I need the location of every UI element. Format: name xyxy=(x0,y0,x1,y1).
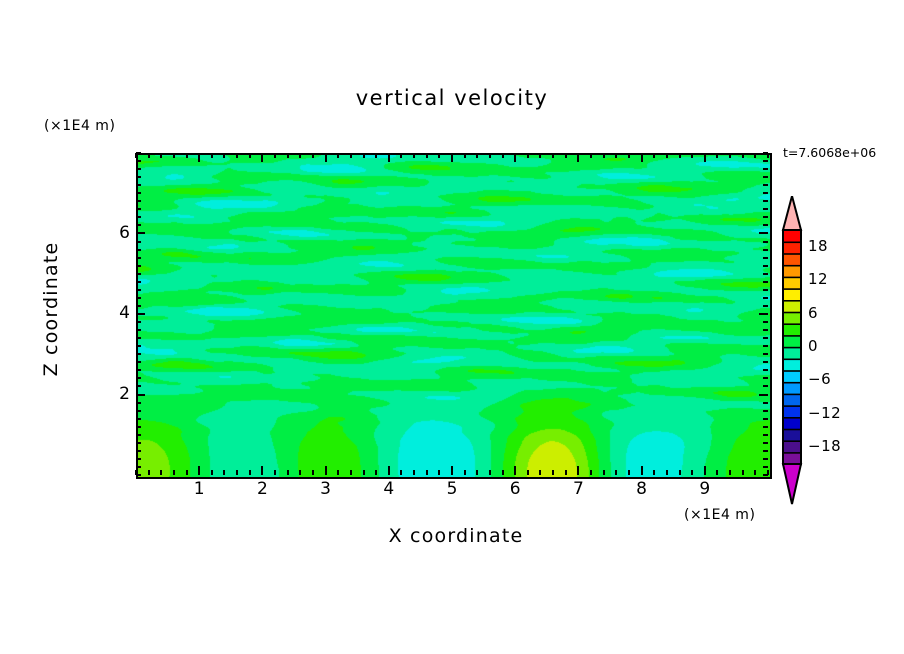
x-tick-top xyxy=(552,153,554,158)
x-tick-top xyxy=(160,153,162,158)
x-tick-top xyxy=(679,153,681,158)
x-tick xyxy=(476,470,478,475)
y-tick-right xyxy=(763,208,768,210)
y-tick xyxy=(136,224,141,226)
x-tick xyxy=(451,466,453,475)
y-tick-right xyxy=(763,200,768,202)
y-tick xyxy=(136,466,141,468)
x-tick xyxy=(539,470,541,475)
x-tick-top xyxy=(148,153,150,158)
y-tick xyxy=(136,192,141,194)
y-tick-right xyxy=(763,321,768,323)
x-tick xyxy=(173,470,175,475)
y-tick xyxy=(136,329,141,331)
x-tick xyxy=(716,470,718,475)
x-tick xyxy=(337,470,339,475)
y-tick-label: 4 xyxy=(96,303,130,323)
x-tick xyxy=(489,470,491,475)
y-tick xyxy=(136,152,141,154)
x-tick xyxy=(388,466,390,475)
x-tick xyxy=(287,470,289,475)
x-tick-top xyxy=(173,153,175,158)
y-tick xyxy=(136,450,141,452)
x-tick-top xyxy=(527,153,529,158)
colorbar-label: 12 xyxy=(808,270,828,288)
x-tick xyxy=(299,470,301,475)
y-tick xyxy=(136,216,141,218)
x-tick-top xyxy=(603,153,605,158)
y-tick-right xyxy=(763,329,768,331)
x-tick-label: 9 xyxy=(685,479,725,499)
x-tick-top xyxy=(691,153,693,158)
y-tick xyxy=(136,297,141,299)
y-tick-right xyxy=(763,216,768,218)
y-tick-right xyxy=(763,297,768,299)
x-tick-top xyxy=(337,153,339,158)
x-tick-top xyxy=(223,153,225,158)
colorbar-swatches xyxy=(778,196,902,506)
colorbar-label: 6 xyxy=(808,304,818,322)
y-tick-right xyxy=(763,152,768,154)
x-tick-top xyxy=(666,153,668,158)
y-tick xyxy=(136,168,141,170)
x-tick-top xyxy=(261,153,263,162)
y-tick xyxy=(136,313,145,315)
x-tick xyxy=(590,470,592,475)
x-tick-label: 2 xyxy=(242,479,282,499)
x-tick xyxy=(502,470,504,475)
x-tick-top xyxy=(451,153,453,162)
y-tick xyxy=(136,369,141,371)
y-tick-right xyxy=(763,192,768,194)
x-tick-top xyxy=(565,153,567,158)
x-tick xyxy=(223,470,225,475)
x-tick-top xyxy=(325,153,327,162)
y-tick-right xyxy=(763,426,768,428)
x-tick xyxy=(464,470,466,475)
y-tick-right xyxy=(763,402,768,404)
x-tick-label: 8 xyxy=(622,479,662,499)
x-tick xyxy=(641,466,643,475)
y-tick-right xyxy=(763,377,768,379)
x-tick-top xyxy=(350,153,352,158)
y-tick xyxy=(136,176,141,178)
contour-plot-area xyxy=(136,153,772,479)
x-tick-top xyxy=(236,153,238,158)
y-tick-right xyxy=(763,249,768,251)
x-tick xyxy=(666,470,668,475)
y-tick xyxy=(136,200,141,202)
y-tick xyxy=(136,265,141,267)
y-tick-right xyxy=(763,434,768,436)
time-annotation: t=7.6068e+06 xyxy=(783,145,876,160)
y-tick-right xyxy=(763,337,768,339)
y-tick xyxy=(136,249,141,251)
x-tick-label: 5 xyxy=(432,479,472,499)
x-tick-top xyxy=(704,153,706,162)
x-tick xyxy=(729,470,731,475)
x-tick xyxy=(552,470,554,475)
chart-title: vertical velocity xyxy=(0,86,904,110)
x-tick xyxy=(236,470,238,475)
colorbar-label: 18 xyxy=(808,237,828,255)
y-tick xyxy=(136,474,141,476)
y-tick-right xyxy=(763,369,768,371)
x-tick xyxy=(198,466,200,475)
y-tick-right xyxy=(763,281,768,283)
x-tick xyxy=(249,470,251,475)
colorbar-label: −12 xyxy=(808,404,841,422)
x-tick-top xyxy=(438,153,440,158)
x-tick xyxy=(527,470,529,475)
x-tick xyxy=(426,470,428,475)
x-tick xyxy=(628,470,630,475)
y-tick-right xyxy=(763,442,768,444)
x-tick-top xyxy=(363,153,365,158)
x-tick-label: 6 xyxy=(495,479,535,499)
y-tick xyxy=(136,241,141,243)
x-tick-top xyxy=(716,153,718,158)
x-tick xyxy=(400,470,402,475)
y-tick-right xyxy=(763,418,768,420)
x-axis-title: X coordinate xyxy=(246,525,666,547)
x-tick xyxy=(211,470,213,475)
x-tick-top xyxy=(312,153,314,158)
x-tick xyxy=(742,470,744,475)
y-tick-right xyxy=(759,232,768,234)
x-tick xyxy=(653,470,655,475)
y-axis-unit-label: (×1E4 m) xyxy=(44,118,115,134)
x-tick xyxy=(603,470,605,475)
y-tick xyxy=(136,281,141,283)
x-tick-top xyxy=(742,153,744,158)
y-tick xyxy=(136,353,141,355)
x-tick-top xyxy=(615,153,617,158)
x-tick-label: 7 xyxy=(558,479,598,499)
y-tick xyxy=(136,345,141,347)
y-tick-right xyxy=(763,257,768,259)
x-tick xyxy=(160,470,162,475)
y-tick xyxy=(136,394,145,396)
y-tick xyxy=(136,402,141,404)
y-tick xyxy=(136,184,141,186)
x-tick xyxy=(577,466,579,475)
x-tick xyxy=(325,466,327,475)
x-axis-unit-label: (×1E4 m) xyxy=(684,507,755,523)
y-tick xyxy=(136,410,141,412)
y-tick-right xyxy=(763,458,768,460)
x-tick-top xyxy=(489,153,491,158)
x-tick-top xyxy=(388,153,390,162)
x-tick-top xyxy=(641,153,643,162)
x-tick-top xyxy=(375,153,377,158)
y-tick-right xyxy=(763,176,768,178)
colorbar-label: 0 xyxy=(808,337,818,355)
x-tick xyxy=(679,470,681,475)
x-tick-top xyxy=(539,153,541,158)
x-tick xyxy=(186,470,188,475)
x-tick xyxy=(691,470,693,475)
x-tick-top xyxy=(400,153,402,158)
x-tick xyxy=(274,470,276,475)
x-tick-top xyxy=(502,153,504,158)
x-tick xyxy=(350,470,352,475)
y-tick-right xyxy=(763,450,768,452)
y-tick-right xyxy=(763,224,768,226)
x-tick-top xyxy=(729,153,731,158)
x-tick-top xyxy=(653,153,655,158)
y-tick xyxy=(136,385,141,387)
y-tick xyxy=(136,160,141,162)
x-tick-top xyxy=(413,153,415,158)
y-tick xyxy=(136,377,141,379)
y-tick xyxy=(136,273,141,275)
x-tick-top xyxy=(426,153,428,158)
x-tick xyxy=(413,470,415,475)
y-tick xyxy=(136,337,141,339)
y-tick-right xyxy=(763,353,768,355)
x-tick-top xyxy=(274,153,276,158)
y-tick-right xyxy=(763,168,768,170)
y-tick xyxy=(136,305,141,307)
y-tick-right xyxy=(763,289,768,291)
y-tick xyxy=(136,434,141,436)
x-tick-top xyxy=(628,153,630,158)
y-tick-right xyxy=(763,345,768,347)
x-tick-top xyxy=(590,153,592,158)
x-tick xyxy=(375,470,377,475)
x-tick-label: 4 xyxy=(369,479,409,499)
y-axis-title: Z coordinate xyxy=(40,229,62,389)
y-tick-right xyxy=(759,394,768,396)
x-tick xyxy=(148,470,150,475)
contour-field-canvas xyxy=(138,155,770,477)
y-tick xyxy=(136,426,141,428)
x-tick-top xyxy=(754,153,756,158)
y-tick-label: 6 xyxy=(96,223,130,243)
y-tick xyxy=(136,321,141,323)
y-tick-right xyxy=(763,265,768,267)
y-tick-right xyxy=(763,466,768,468)
y-tick-right xyxy=(763,385,768,387)
colorbar[interactable]: 181260−6−12−18 xyxy=(778,196,902,506)
y-tick xyxy=(136,442,141,444)
y-tick-right xyxy=(763,474,768,476)
y-tick xyxy=(136,458,141,460)
y-tick-right xyxy=(763,184,768,186)
y-tick-right xyxy=(763,305,768,307)
y-tick xyxy=(136,361,141,363)
x-tick xyxy=(363,470,365,475)
x-tick-top xyxy=(464,153,466,158)
x-tick xyxy=(261,466,263,475)
x-tick-top xyxy=(186,153,188,158)
y-tick xyxy=(136,232,145,234)
x-tick xyxy=(754,470,756,475)
x-tick xyxy=(565,470,567,475)
x-tick-top xyxy=(514,153,516,162)
y-tick-right xyxy=(763,160,768,162)
x-tick-top xyxy=(198,153,200,162)
x-tick-label: 1 xyxy=(179,479,219,499)
x-tick xyxy=(704,466,706,475)
x-tick-top xyxy=(476,153,478,158)
x-tick-label: 3 xyxy=(306,479,346,499)
y-tick-right xyxy=(763,273,768,275)
x-tick-top xyxy=(249,153,251,158)
y-tick-label: 2 xyxy=(96,384,130,404)
x-tick-top xyxy=(287,153,289,158)
y-tick-right xyxy=(763,410,768,412)
x-tick xyxy=(312,470,314,475)
y-tick xyxy=(136,418,141,420)
x-tick xyxy=(438,470,440,475)
y-tick xyxy=(136,257,141,259)
x-tick-top xyxy=(211,153,213,158)
x-tick xyxy=(514,466,516,475)
y-tick-right xyxy=(763,241,768,243)
y-tick-right xyxy=(759,313,768,315)
x-tick xyxy=(615,470,617,475)
y-tick xyxy=(136,289,141,291)
y-tick-right xyxy=(763,361,768,363)
y-tick xyxy=(136,208,141,210)
x-tick-top xyxy=(299,153,301,158)
colorbar-label: −6 xyxy=(808,370,831,388)
colorbar-label: −18 xyxy=(808,437,841,455)
x-tick-top xyxy=(577,153,579,162)
